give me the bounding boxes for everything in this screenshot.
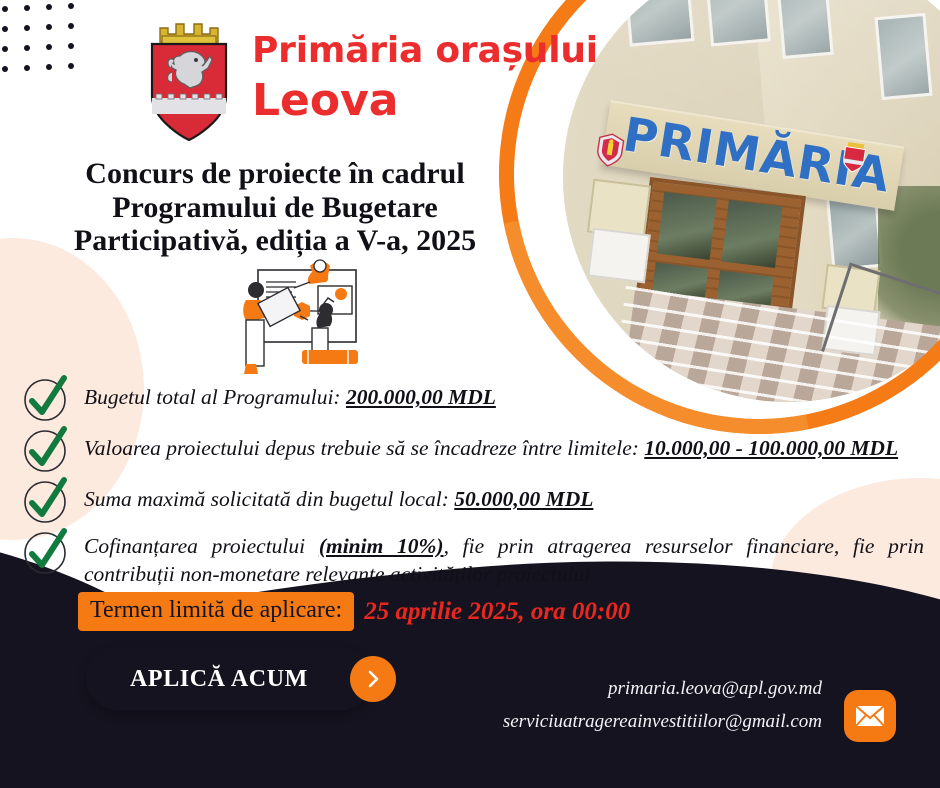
envelope-icon[interactable]	[844, 690, 896, 742]
contact-emails: primaria.leova@apl.gov.md serviciuatrage…	[503, 678, 822, 744]
chevron-right-icon[interactable]	[350, 656, 396, 702]
list-item: Suma maximă solicitată din bugetul local…	[18, 480, 924, 524]
list-item-text: Cofinanțarea proiectului (minim 10%), fi…	[84, 531, 924, 588]
criteria-list: Bugetul total al Programului: 200.000,00…	[18, 378, 924, 595]
check-circle-icon	[18, 476, 75, 524]
brand-header: Primăria orașului Leova	[140, 12, 598, 144]
check-circle-icon	[18, 425, 75, 473]
deadline-date: 25 aprilie 2025, ora 00:00	[364, 598, 630, 626]
brand-line-2: Leova	[252, 79, 598, 123]
page-title: Concurs de proiecte în cadrul Programulu…	[40, 157, 510, 258]
check-circle-icon	[18, 527, 75, 575]
poster-canvas: PRIMĂRIA	[0, 0, 940, 788]
list-item: Valoarea proiectului depus trebuie să se…	[18, 429, 924, 473]
apply-now-label: APLICĂ ACUM	[130, 666, 308, 693]
email-secondary[interactable]: serviciuatragereainvestitiilor@gmail.com	[503, 711, 822, 733]
list-item-text: Valoarea proiectului depus trebuie să se…	[84, 429, 898, 463]
list-item: Cofinanțarea proiectului (minim 10%), fi…	[18, 531, 924, 588]
coat-of-arms-icon	[140, 12, 238, 144]
email-primary[interactable]: primaria.leova@apl.gov.md	[503, 678, 822, 700]
list-item: Bugetul total al Programului: 200.000,00…	[18, 378, 924, 422]
brand-line-1: Primăria orașului	[252, 33, 598, 69]
deadline-label: Termen limită de aplicare:	[78, 592, 354, 631]
list-item-text: Bugetul total al Programului: 200.000,00…	[84, 378, 496, 412]
poster-content: Primăria orașului Leova Concurs de proie…	[0, 0, 940, 788]
apply-now-button[interactable]: APLICĂ ACUM	[86, 648, 372, 710]
check-circle-icon	[18, 374, 75, 422]
list-item-text: Suma maximă solicitată din bugetul local…	[84, 480, 593, 514]
teamwork-planning-illustration	[222, 254, 382, 394]
deadline-banner: Termen limită de aplicare: 25 aprilie 20…	[78, 592, 630, 631]
